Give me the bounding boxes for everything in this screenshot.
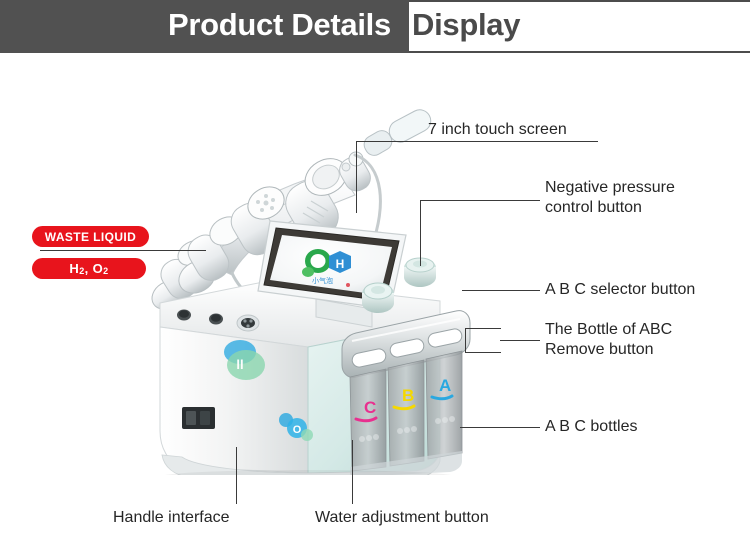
leader-touch-screen-underline: [404, 141, 598, 142]
page-title-secondary: Display: [412, 7, 520, 43]
leader-abc-bottles: [460, 427, 540, 428]
leader-water-adjustment: [352, 440, 353, 504]
svg-text:C: C: [364, 398, 376, 417]
badge-gas: H2 , O2: [32, 258, 146, 279]
svg-text:A: A: [439, 376, 451, 395]
callout-abc-selector: A B C selector button: [545, 280, 695, 300]
svg-text:ll: ll: [236, 357, 243, 372]
leader-waste-liquid: [40, 250, 206, 251]
bottle-a: A: [426, 351, 462, 459]
leader-bottle-remove-bracket: [465, 328, 501, 353]
leader-handle-interface: [236, 447, 237, 504]
callout-handle-interface: Handle interface: [113, 508, 230, 528]
svg-text:H: H: [336, 257, 345, 271]
bottle-c: C: [350, 369, 386, 471]
badge-waste-liquid: WASTE LIQUID: [32, 226, 149, 247]
svg-text:小气泡: 小气泡: [312, 276, 333, 285]
bottle-b: B: [388, 360, 424, 466]
callout-water-adjustment: Water adjustment button: [315, 508, 489, 528]
leader-touch-screen-horizontal: [356, 141, 405, 142]
svg-text:O: O: [293, 424, 302, 436]
leader-touch-screen-vertical: [356, 141, 357, 213]
svg-text:B: B: [402, 386, 414, 405]
vent-panel: [182, 407, 215, 429]
callout-negative-pressure: Negative pressure control button: [545, 178, 675, 218]
quartz-wand: [361, 106, 435, 159]
callout-bottle-remove: The Bottle of ABC Remove button: [545, 320, 672, 360]
abc-selector-knob: [362, 283, 394, 313]
callout-touch-screen: 7 inch touch screen: [428, 120, 567, 140]
leader-negative-pressure-horizontal: [420, 200, 540, 201]
product-machine-illustration: ll O: [140, 95, 500, 475]
leader-negative-pressure-vertical: [420, 200, 421, 266]
page-title-primary: Product Details: [168, 7, 391, 43]
leader-abc-selector: [462, 290, 540, 291]
leader-bottle-remove-horizontal: [500, 340, 540, 341]
callout-abc-bottles: A B C bottles: [545, 417, 638, 437]
product-details-page: Product Details Display: [0, 0, 750, 550]
page-header: Product Details Display: [0, 0, 750, 53]
